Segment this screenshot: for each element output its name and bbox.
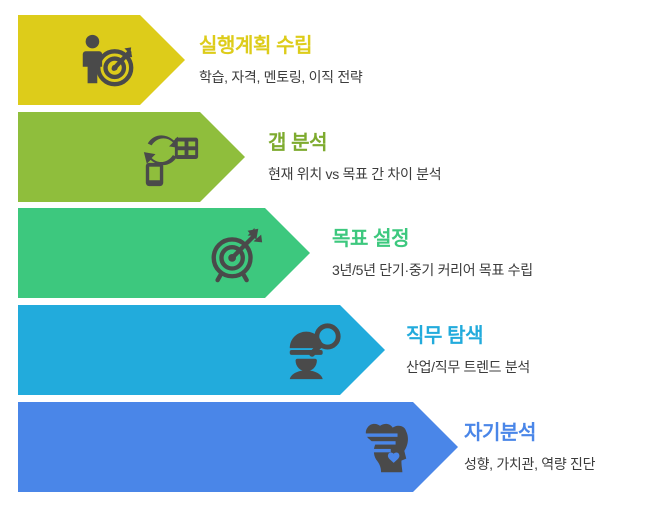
chevron-shape-step-1	[18, 15, 185, 105]
step-title-2: 갭 분석	[268, 131, 441, 156]
step-text-block-3: 목표 설정 3년/5년 단기·중기 커리어 목표 수립	[332, 208, 533, 298]
process-step-3: 목표 설정 3년/5년 단기·중기 커리어 목표 수립	[0, 208, 664, 298]
process-step-2: 갭 분석 현재 위치 vs 목표 간 차이 분석	[0, 112, 664, 202]
step-description-5: 성향, 가치관, 역량 진단	[464, 455, 595, 473]
step-title-3: 목표 설정	[332, 227, 533, 252]
step-text-block-2: 갭 분석 현재 위치 vs 목표 간 차이 분석	[268, 112, 441, 202]
step-text-block-1: 실행계획 수립 학습, 자격, 멘토링, 이직 전략	[199, 15, 363, 105]
step-description-4: 산업/직무 트렌드 분석	[406, 358, 530, 376]
step-title-4: 직무 탐색	[406, 324, 530, 349]
step-description-3: 3년/5년 단기·중기 커리어 목표 수립	[332, 261, 533, 279]
step-title-5: 자기분석	[464, 421, 595, 446]
chevron-shape-step-3	[18, 208, 310, 298]
step-text-block-4: 직무 탐색 산업/직무 트렌드 분석	[406, 305, 530, 395]
step-description-1: 학습, 자격, 멘토링, 이직 전략	[199, 68, 363, 86]
process-step-5: 자기분석 성향, 가치관, 역량 진단	[0, 402, 664, 492]
chevron-shape-step-4	[18, 305, 385, 395]
process-step-1: 실행계획 수립 학습, 자격, 멘토링, 이직 전략	[0, 15, 664, 105]
chevron-shape-step-2	[18, 112, 245, 202]
step-description-2: 현재 위치 vs 목표 간 차이 분석	[268, 165, 441, 183]
chevron-shape-step-5	[18, 402, 458, 492]
chevron-process-infographic: 실행계획 수립 학습, 자격, 멘토링, 이직 전략	[0, 0, 664, 506]
process-step-4: 직무 탐색 산업/직무 트렌드 분석	[0, 305, 664, 395]
step-title-1: 실행계획 수립	[199, 34, 363, 59]
step-text-block-5: 자기분석 성향, 가치관, 역량 진단	[464, 402, 595, 492]
